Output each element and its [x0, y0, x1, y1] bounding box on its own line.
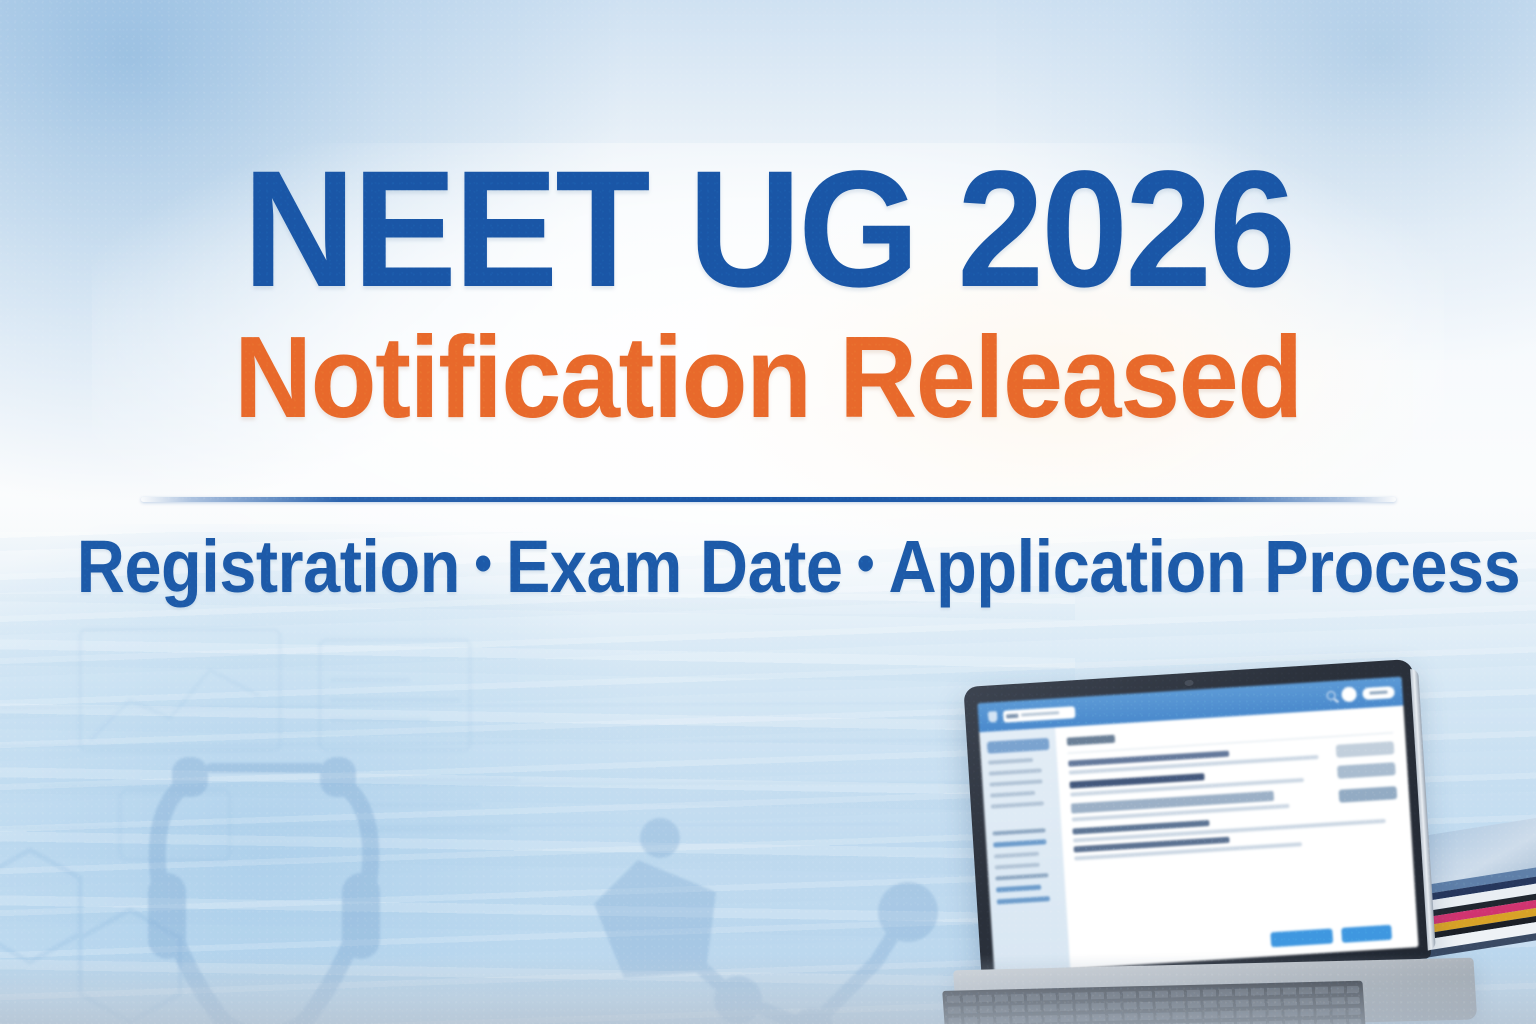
poster-canvas: NEET UG 2026 Notification Released Regis…	[0, 0, 1536, 1024]
background-grain	[0, 0, 1536, 1024]
